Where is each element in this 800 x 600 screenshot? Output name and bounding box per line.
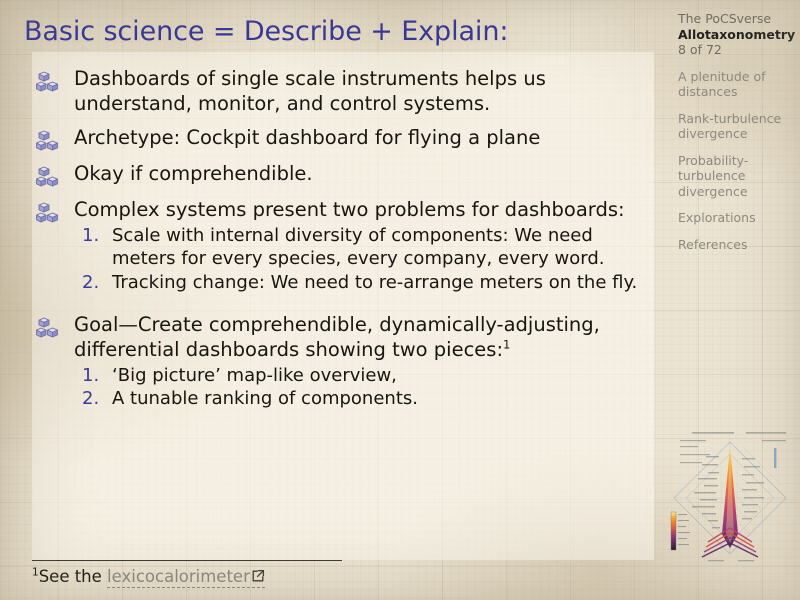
slide-title: Basic science = Describe + Explain: xyxy=(24,15,664,49)
bullet-text: Goal—Create comprehendible, dynamically-… xyxy=(74,313,600,361)
sublist-number: 1. xyxy=(82,364,99,387)
footnote-lead-text: See the xyxy=(39,567,107,586)
sidebar-item-explorations[interactable]: Explorations xyxy=(678,210,796,226)
sidebar-brand: The PoCSverse xyxy=(678,11,796,27)
slide-canvas: Basic science = Describe + Explain: The … xyxy=(0,0,800,600)
sublist-item: 1. ‘Big picture’ map-like overview, xyxy=(74,364,648,387)
lexicocalorimeter-link-label: lexicocalorimeter xyxy=(107,567,250,586)
bullet-block: Archetype: Cockpit dashboard for flying … xyxy=(36,125,648,152)
sublist-item: 2. A tunable ranking of components. xyxy=(74,387,648,410)
sidebar-item-references[interactable]: References xyxy=(678,237,796,253)
sidebar-item-probability-turbulence-divergence[interactable]: Probability-turbulence divergence xyxy=(678,153,796,200)
sublist-text: Tracking change: We need to re-arrange m… xyxy=(112,272,637,293)
bullet-block: Okay if comprehendible. xyxy=(36,161,648,188)
cubes-icon xyxy=(36,161,74,188)
sidebar-item-plenitude-of-distances[interactable]: A plenitude of distances xyxy=(678,69,796,100)
bullet-text: Dashboards of single scale instruments h… xyxy=(74,66,648,116)
footnote-rule xyxy=(32,560,342,561)
footnote-number: 1 xyxy=(32,567,39,579)
sublist-item: 1. Scale with internal diversity of comp… xyxy=(74,224,648,270)
external-link-icon xyxy=(251,568,265,582)
sidebar-page-indicator: 8 of 72 xyxy=(678,42,796,58)
bullet-block: Goal—Create comprehendible, dynamically-… xyxy=(36,312,648,410)
bullet-block: Dashboards of single scale instruments h… xyxy=(36,66,648,116)
lexicocalorimeter-link[interactable]: lexicocalorimeter xyxy=(107,567,265,588)
allotaxonograph-thumbnail xyxy=(662,416,798,578)
sublist-number: 2. xyxy=(82,387,99,410)
sidebar-nav: The PoCSverse Allotaxonometry 8 of 72 A … xyxy=(678,11,796,252)
sublist-text: A tunable ranking of components. xyxy=(112,388,418,409)
bullet-text-wrapper: Goal—Create comprehendible, dynamically-… xyxy=(74,312,648,362)
bullet-text: Complex systems present two problems for… xyxy=(74,197,648,222)
numbered-sublist: 1. ‘Big picture’ map-like overview, 2. A… xyxy=(74,364,648,410)
bullet-list: Dashboards of single scale instruments h… xyxy=(36,66,648,419)
footnote: 1See the lexicocalorimeter xyxy=(32,560,452,587)
sidebar-item-rank-turbulence-divergence[interactable]: Rank-turbulence divergence xyxy=(678,111,796,142)
sublist-item: 2. Tracking change: We need to re-arrang… xyxy=(74,271,648,294)
sublist-number: 1. xyxy=(82,224,99,247)
footnote-text: 1See the lexicocalorimeter xyxy=(32,567,452,587)
bullet-text: Okay if comprehendible. xyxy=(74,161,648,186)
cubes-icon xyxy=(36,312,74,339)
bullet-text: Archetype: Cockpit dashboard for flying … xyxy=(74,125,648,150)
sidebar-deck-title: Allotaxonometry xyxy=(678,27,796,43)
cubes-icon xyxy=(36,125,74,152)
numbered-sublist: 1. Scale with internal diversity of comp… xyxy=(74,224,648,294)
footnote-marker[interactable]: 1 xyxy=(503,338,510,352)
sublist-number: 2. xyxy=(82,271,99,294)
sublist-text: Scale with internal diversity of compone… xyxy=(112,225,604,269)
sublist-text: ‘Big picture’ map-like overview, xyxy=(112,365,397,386)
cubes-icon xyxy=(36,66,74,93)
cubes-icon xyxy=(36,197,74,224)
bullet-block: Complex systems present two problems for… xyxy=(36,197,648,295)
